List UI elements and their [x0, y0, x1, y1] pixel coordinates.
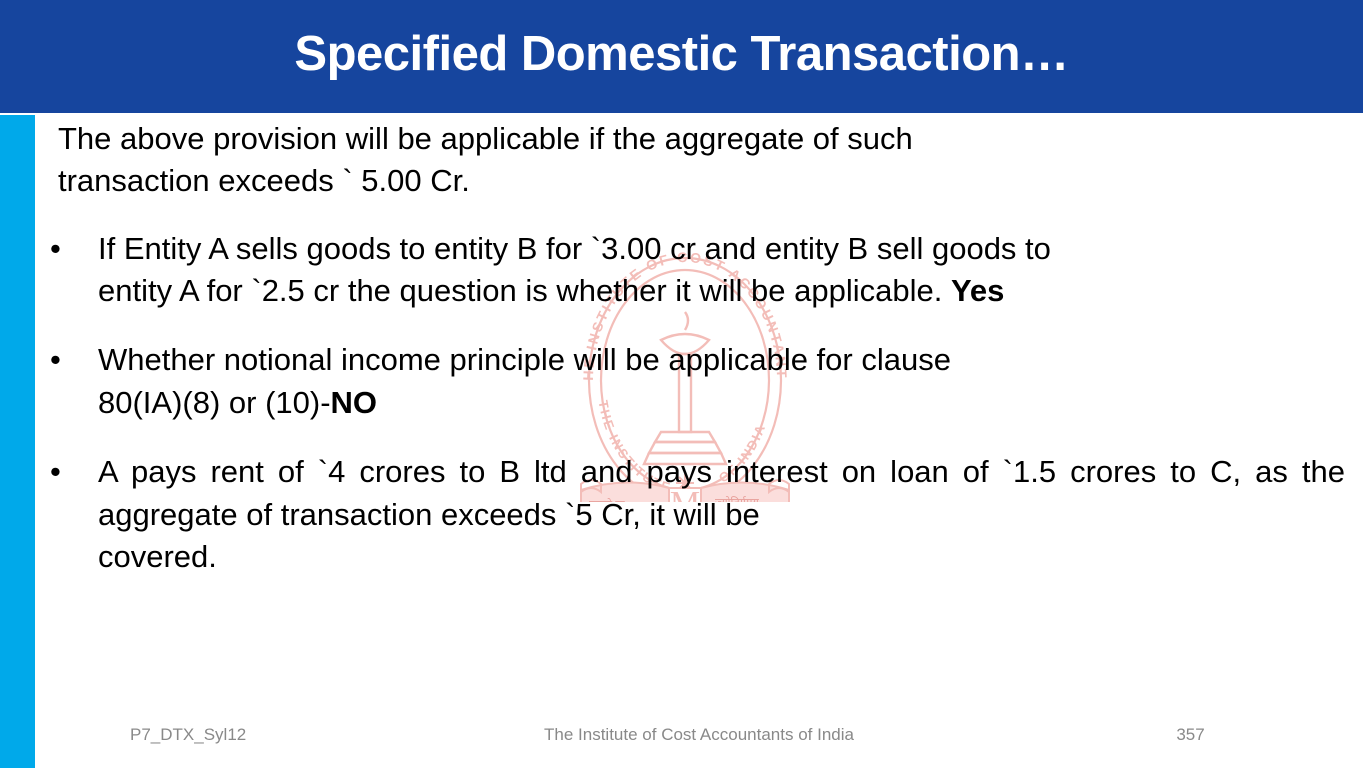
slide: Specified Domestic Transaction… THE INST…: [0, 0, 1363, 768]
bullet-1-line-2-plain: entity A for `2.5 cr the question is whe…: [98, 273, 951, 308]
intro-paragraph: The above provision will be applicable i…: [40, 118, 1355, 202]
left-accent-strip: [0, 115, 35, 768]
slide-header-bar: Specified Domestic Transaction…: [0, 0, 1363, 113]
bullet-3-line-3: covered.: [98, 536, 1345, 579]
bullet-3-line-1: A pays rent of `4 crores to B ltd and pa…: [98, 454, 1056, 489]
intro-line-2: transaction exceeds ` 5.00 Cr.: [58, 160, 1343, 202]
intro-line-1: The above provision will be applicable i…: [58, 121, 913, 156]
bullet-2-emphasis: NO: [331, 385, 378, 420]
list-item: • If Entity A sells goods to entity B fo…: [40, 228, 1355, 314]
bullet-2-line-1: Whether notional income principle will b…: [98, 342, 951, 377]
bullet-2-line-2-plain: 80(IA)(8) or (10)-: [98, 385, 331, 420]
slide-body: The above provision will be applicable i…: [40, 118, 1355, 698]
bullet-1-emphasis: Yes: [951, 273, 1004, 308]
bullet-2-line-2: 80(IA)(8) or (10)-NO: [98, 382, 1345, 425]
bullet-1-line-1: If Entity A sells goods to entity B for …: [98, 231, 1051, 266]
bullet-marker-icon: •: [50, 339, 61, 382]
footer-page-number: 357: [1063, 725, 1363, 745]
bullet-marker-icon: •: [50, 228, 61, 271]
list-item: • A pays rent of `4 crores to B ltd and …: [40, 451, 1355, 579]
page-title: Specified Domestic Transaction…: [274, 30, 1088, 79]
bullet-1-line-2: entity A for `2.5 cr the question is whe…: [98, 270, 1345, 313]
bullet-list: • If Entity A sells goods to entity B fo…: [40, 228, 1355, 579]
slide-footer: P7_DTX_Syl12 The Institute of Cost Accou…: [35, 718, 1363, 752]
footer-organization: The Institute of Cost Accountants of Ind…: [335, 725, 1063, 745]
bullet-marker-icon: •: [50, 451, 61, 494]
footer-course-code: P7_DTX_Syl12: [35, 725, 335, 745]
list-item: • Whether notional income principle will…: [40, 339, 1355, 425]
